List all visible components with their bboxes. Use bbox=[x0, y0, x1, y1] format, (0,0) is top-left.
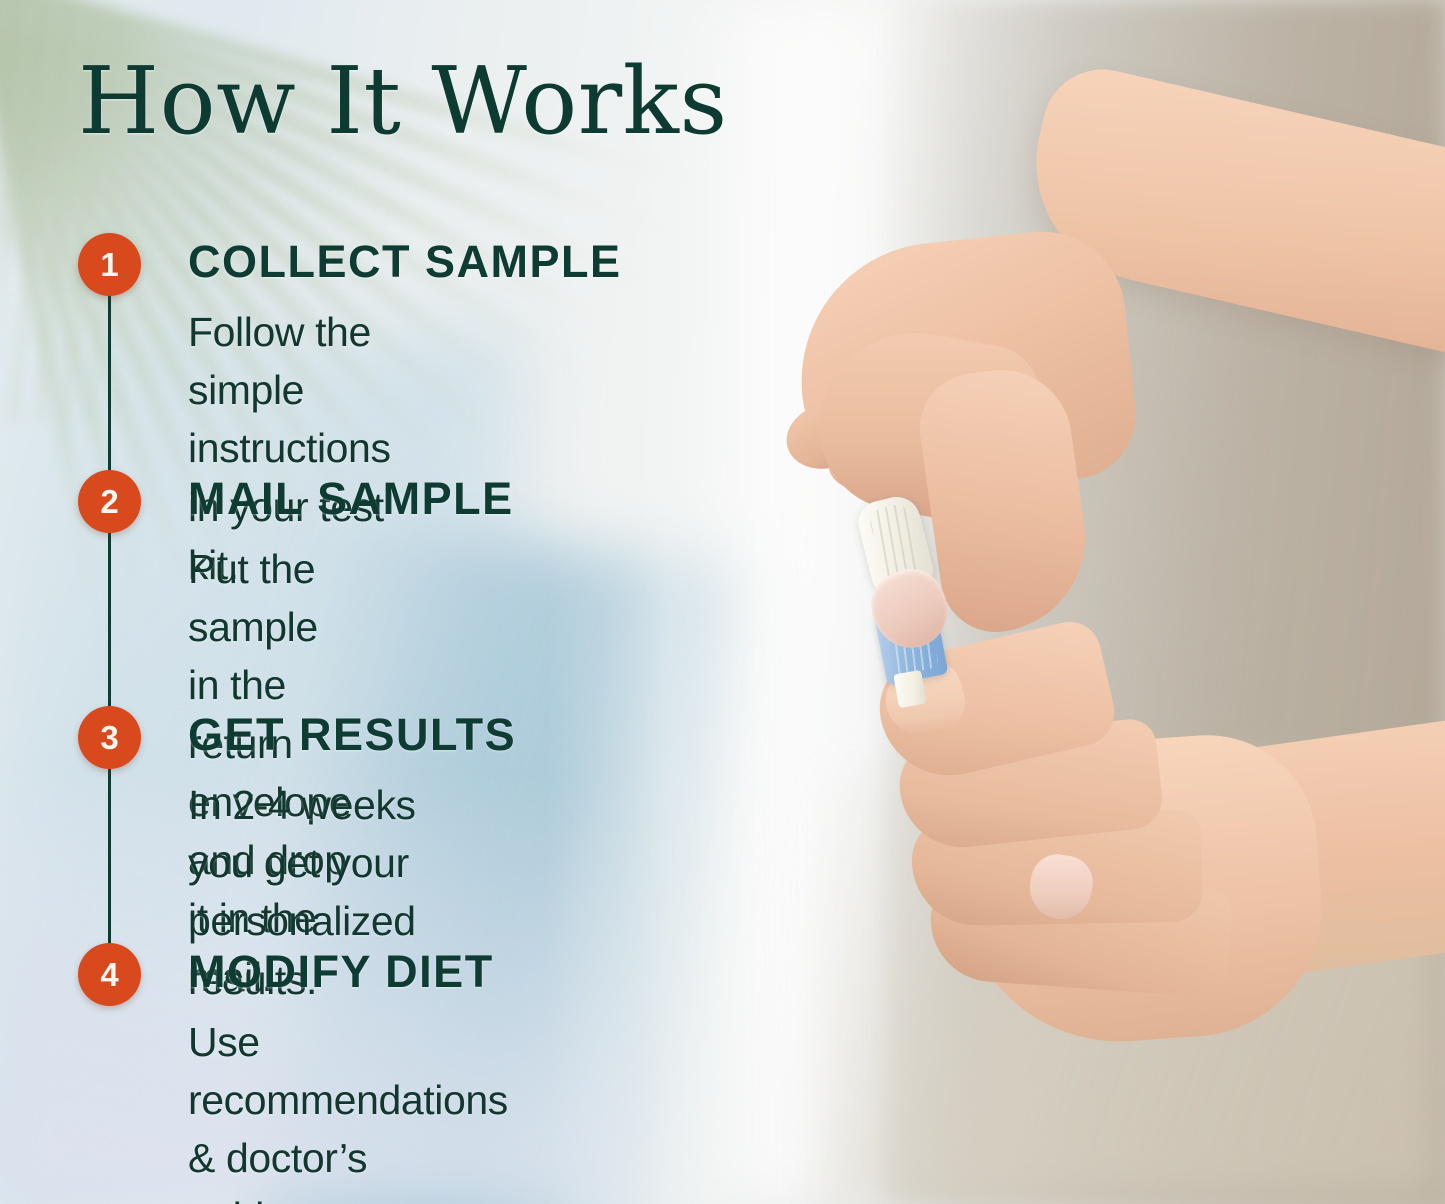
step-number-badge-1: 1 bbox=[78, 233, 141, 296]
step-number-badge-3: 3 bbox=[78, 706, 141, 769]
page-title: How It Works bbox=[78, 55, 728, 148]
step-number-badge-2: 2 bbox=[78, 470, 141, 533]
step-heading-2: MAIL SAMPLE bbox=[188, 473, 514, 525]
step-heading-4: MODIFY DIET bbox=[188, 946, 494, 998]
step-heading-1: COLLECT SAMPLE bbox=[188, 236, 622, 288]
how-it-works-infographic: How It Works 1 COLLECT SAMPLE Follow the… bbox=[0, 0, 1445, 1204]
step-number-badge-4: 4 bbox=[78, 943, 141, 1006]
steps-timeline-connector bbox=[108, 265, 111, 975]
infographic-content: How It Works 1 COLLECT SAMPLE Follow the… bbox=[0, 0, 1445, 1204]
step-body-4: Use recommendations & doctor’s guidance … bbox=[188, 1013, 508, 1204]
step-heading-3: GET RESULTS bbox=[188, 709, 516, 761]
